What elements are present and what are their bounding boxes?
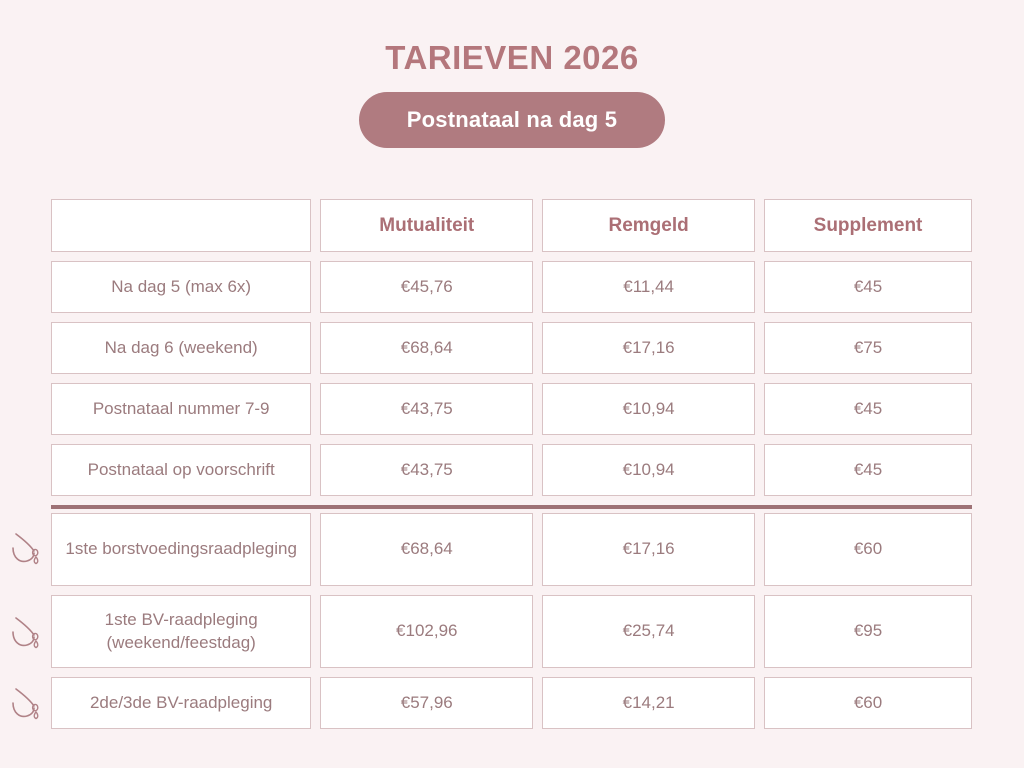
breastfeeding-icon (7, 677, 47, 729)
row-label-cell: 1ste BV-raadpleging (weekend/feestdag) (51, 595, 311, 668)
section-badge: Postnataal na dag 5 (359, 92, 665, 148)
table-row: Postnataal nummer 7-9€43,75€10,94€45 (51, 383, 972, 435)
row-remgeld-cell: €11,44 (542, 261, 755, 313)
column-header-blank (51, 199, 311, 252)
row-supplement-cell: €45 (764, 383, 972, 435)
table-row: 1ste BV-raadpleging (weekend/feestdag)€1… (51, 595, 972, 668)
badge-container: Postnataal na dag 5 (0, 92, 1024, 148)
page-title: TARIEVEN 2026 (0, 40, 1024, 76)
row-remgeld-cell: €10,94 (542, 444, 755, 496)
row-remgeld-cell: €10,94 (542, 383, 755, 435)
row-remgeld-cell: €17,16 (542, 513, 755, 586)
row-mutualiteit-cell: €68,64 (320, 513, 533, 586)
row-label-cell: Na dag 6 (weekend) (51, 322, 311, 374)
row-supplement-cell: €60 (764, 677, 972, 729)
row-supplement-cell: €60 (764, 513, 972, 586)
column-header-remgeld: Remgeld (542, 199, 755, 252)
row-supplement-cell: €75 (764, 322, 972, 374)
row-remgeld-cell: €17,16 (542, 322, 755, 374)
page-header: TARIEVEN 2026 Postnataal na dag 5 (0, 0, 1024, 148)
row-remgeld-cell: €14,21 (542, 677, 755, 729)
table-row: Na dag 6 (weekend)€68,64€17,16€75 (51, 322, 972, 374)
row-label-cell: 1ste borstvoedingsraadpleging (51, 513, 311, 586)
breastfeeding-icon (7, 509, 47, 586)
row-label-cell: Na dag 5 (max 6x) (51, 261, 311, 313)
row-supplement-cell: €45 (764, 261, 972, 313)
row-mutualiteit-cell: €43,75 (320, 444, 533, 496)
table-row: 2de/3de BV-raadpleging€57,96€14,21€60 (51, 677, 972, 729)
table-row: Postnataal op voorschrift€43,75€10,94€45 (51, 444, 972, 496)
table-row: Na dag 5 (max 6x)€45,76€11,44€45 (51, 261, 972, 313)
row-mutualiteit-cell: €45,76 (320, 261, 533, 313)
row-supplement-cell: €95 (764, 595, 972, 668)
row-mutualiteit-cell: €68,64 (320, 322, 533, 374)
row-remgeld-cell: €25,74 (542, 595, 755, 668)
row-label-cell: 2de/3de BV-raadpleging (51, 677, 311, 729)
row-mutualiteit-cell: €43,75 (320, 383, 533, 435)
row-mutualiteit-cell: €57,96 (320, 677, 533, 729)
row-label-cell: Postnataal nummer 7-9 (51, 383, 311, 435)
row-mutualiteit-cell: €102,96 (320, 595, 533, 668)
table-row: 1ste borstvoedingsraadpleging€68,64€17,1… (51, 505, 972, 586)
rates-table: Mutualiteit Remgeld Supplement Na dag 5 … (51, 199, 972, 738)
row-supplement-cell: €45 (764, 444, 972, 496)
column-header-mutualiteit: Mutualiteit (320, 199, 533, 252)
column-header-supplement: Supplement (764, 199, 972, 252)
row-label-cell: Postnataal op voorschrift (51, 444, 311, 496)
table-header-row: Mutualiteit Remgeld Supplement (51, 199, 972, 252)
breastfeeding-icon (7, 595, 47, 668)
